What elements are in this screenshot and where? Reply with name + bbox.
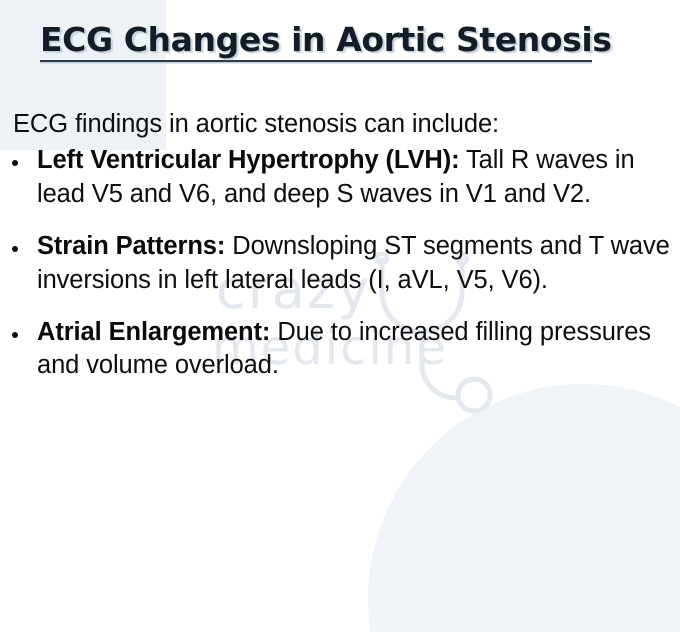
list-item: Left Ventricular Hypertrophy (LVH): Tall… [0, 144, 680, 211]
bullet-lead-label: Atrial Enlargement: [37, 318, 270, 346]
slide-canvas: crazy medicine ECG Changes in Aortic Ste… [0, 0, 680, 632]
bullet-dot-icon [12, 160, 18, 166]
bottom-right-circle-decoration [368, 384, 680, 632]
list-item: Strain Patterns: Downsloping ST segments… [0, 230, 680, 297]
bullet-dot-icon [12, 332, 18, 338]
bullet-lead-label: Left Ventricular Hypertrophy (LVH): [37, 146, 460, 174]
page-title: ECG Changes in Aortic Stenosis [40, 21, 612, 59]
intro-text: ECG findings in aortic stenosis can incl… [0, 108, 680, 141]
bullet-dot-icon [12, 246, 18, 252]
title-underline-rule [40, 60, 592, 62]
bullet-lead-label: Strain Patterns: [37, 232, 225, 260]
bullet-list: Left Ventricular Hypertrophy (LVH): Tall… [0, 144, 680, 382]
title-block: ECG Changes in Aortic Stenosis [40, 21, 612, 62]
list-item: Atrial Enlargement: Due to increased fil… [0, 316, 680, 383]
slide-body: ECG findings in aortic stenosis can incl… [0, 108, 680, 383]
